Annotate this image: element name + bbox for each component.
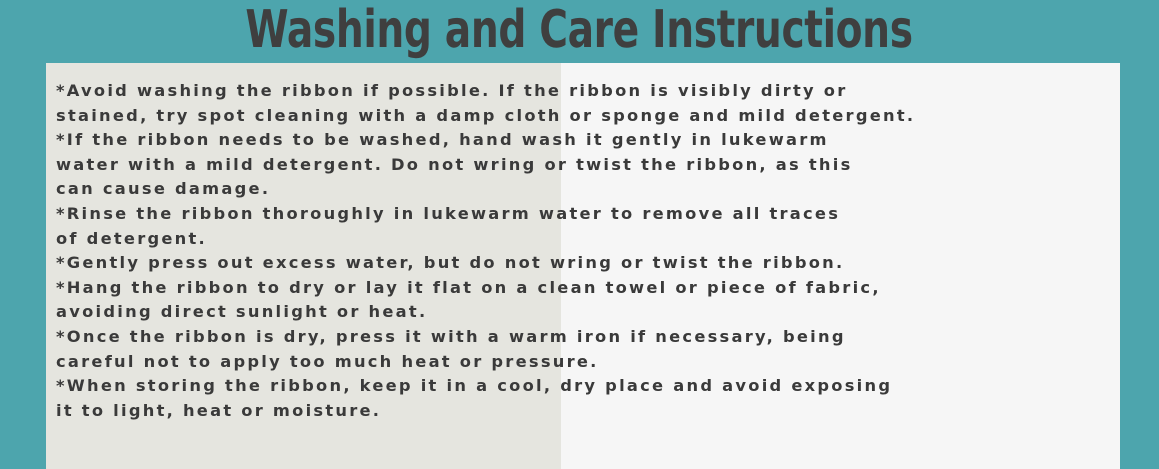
title-bar: Washing and Care Instructions [0, 0, 1159, 60]
instruction-line: can cause damage. [56, 177, 1112, 202]
instruction-line: *Once the ribbon is dry, press it with a… [56, 325, 1112, 350]
instructions-list: *Avoid washing the ribbon if possible. I… [56, 79, 1112, 423]
poster-canvas: Washing and Care Instructions *Avoid was… [0, 0, 1159, 469]
instruction-line: *Rinse the ribbon thoroughly in lukewarm… [56, 202, 1112, 227]
instruction-line: *Avoid washing the ribbon if possible. I… [56, 79, 1112, 104]
instruction-line: *Hang the ribbon to dry or lay it flat o… [56, 276, 1112, 301]
instruction-line: careful not to apply too much heat or pr… [56, 350, 1112, 375]
instruction-line: it to light, heat or moisture. [56, 399, 1112, 424]
instruction-line: *Gently press out excess water, but do n… [56, 251, 1112, 276]
instruction-line: of detergent. [56, 227, 1112, 252]
instruction-line: *When storing the ribbon, keep it in a c… [56, 374, 1112, 399]
instruction-line: avoiding direct sunlight or heat. [56, 300, 1112, 325]
instruction-line: water with a mild detergent. Do not wrin… [56, 153, 1112, 178]
instruction-line: stained, try spot cleaning with a damp c… [56, 104, 1112, 129]
page-title: Washing and Care Instructions [246, 2, 913, 57]
instructions-panel: *Avoid washing the ribbon if possible. I… [46, 63, 1120, 469]
instruction-line: *If the ribbon needs to be washed, hand … [56, 128, 1112, 153]
